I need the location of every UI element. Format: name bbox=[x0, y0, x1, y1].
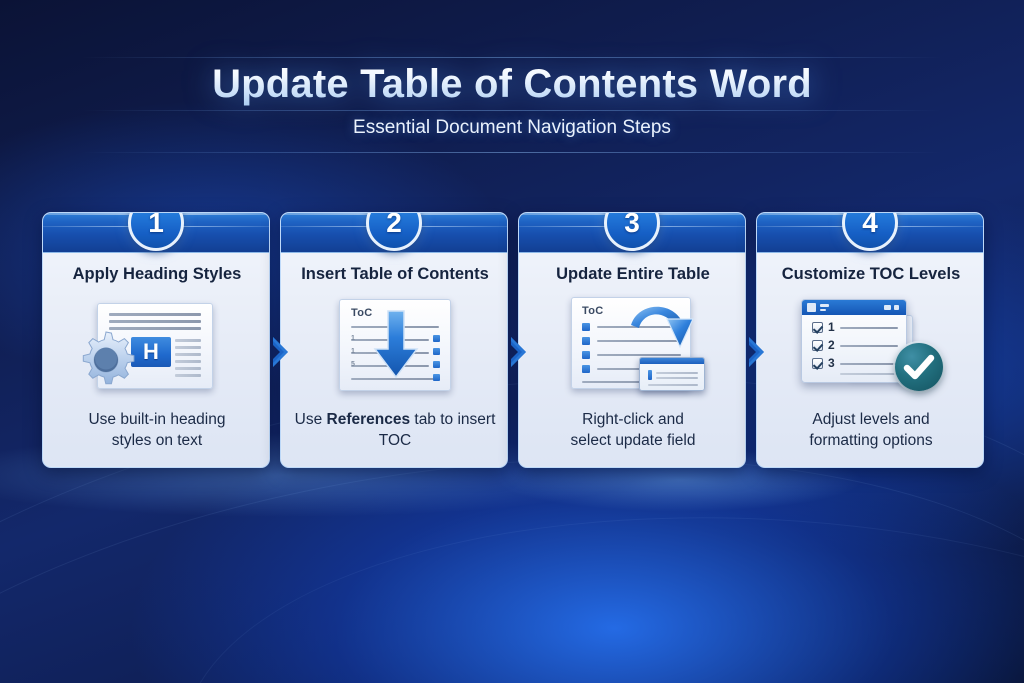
context-menu-popup[interactable] bbox=[639, 357, 705, 391]
toc-refresh-arrow-context-menu-icon: ToC bbox=[519, 291, 745, 397]
gear-icon bbox=[75, 329, 137, 396]
infographic-canvas: Update Table of Contents Word Essential … bbox=[0, 0, 1024, 683]
menu-icon bbox=[820, 309, 826, 311]
page-subtitle: Essential Document Navigation Steps bbox=[0, 117, 1024, 139]
menu-icon bbox=[820, 304, 829, 307]
step-card-3[interactable]: 3 Update Entire Table ToC bbox=[518, 212, 746, 468]
step-card-2[interactable]: 2 Insert Table of Contents ToC 1 1 5 bbox=[280, 212, 508, 468]
level-number: 1 bbox=[828, 320, 835, 334]
header-divider bbox=[82, 152, 942, 153]
step-title: Customize TOC Levels bbox=[763, 265, 979, 284]
step-desc-suffix: styles on text bbox=[112, 432, 202, 449]
header-divider bbox=[82, 57, 942, 58]
toc-row-number: 1 bbox=[351, 348, 355, 355]
header-divider bbox=[82, 110, 942, 111]
step-title: Update Entire Table bbox=[525, 265, 741, 284]
step-title: Insert Table of Contents bbox=[287, 265, 503, 284]
level-number: 3 bbox=[828, 356, 835, 370]
step-desc-suffix: formatting options bbox=[809, 432, 932, 449]
toc-row-number: 1 bbox=[351, 335, 355, 342]
toc-levels-dialog-checkmark-icon: 1 2 3 bbox=[757, 291, 983, 397]
step-desc-prefix: Right-click and bbox=[582, 411, 684, 428]
toc-row-number: 5 bbox=[351, 361, 355, 368]
step-desc-prefix: Adjust levels and bbox=[812, 411, 929, 428]
step-title: Apply Heading Styles bbox=[49, 265, 265, 284]
down-arrow-icon bbox=[371, 309, 421, 386]
step-card-1[interactable]: 1 Apply Heading Styles H bbox=[42, 212, 270, 468]
checkmark-badge-icon bbox=[895, 343, 943, 391]
dialog-title-bar bbox=[802, 300, 906, 315]
window-minimize-icon[interactable] bbox=[884, 305, 891, 310]
document-heading-gear-icon: H bbox=[43, 291, 269, 397]
chevron-right-icon bbox=[746, 335, 768, 369]
level-checkbox[interactable] bbox=[812, 340, 823, 351]
heading-letter-block: H bbox=[131, 337, 171, 367]
level-number: 2 bbox=[828, 338, 835, 352]
page-title: Update Table of Contents Word bbox=[0, 62, 1024, 107]
toc-label: ToC bbox=[582, 305, 603, 317]
level-checkbox[interactable] bbox=[812, 322, 823, 333]
step-desc-emphasis: References bbox=[327, 411, 411, 428]
step-desc-suffix: select update field bbox=[571, 432, 696, 449]
window-close-icon[interactable] bbox=[894, 305, 899, 310]
background-curve bbox=[163, 479, 1024, 683]
step-description: Use References tab to insert TOC bbox=[291, 409, 499, 451]
step-description: Right-click and select update field bbox=[529, 409, 737, 451]
chevron-right-icon bbox=[270, 335, 292, 369]
step-desc-prefix: Use built-in heading bbox=[88, 411, 225, 428]
level-checkbox[interactable] bbox=[812, 358, 823, 369]
toc-levels-dialog[interactable]: 1 2 3 bbox=[801, 299, 907, 383]
toc-insert-down-arrow-icon: ToC 1 1 5 bbox=[281, 291, 507, 397]
grid-icon bbox=[807, 303, 816, 312]
step-card-4[interactable]: 4 Customize TOC Levels 1 2 bbox=[756, 212, 984, 468]
step-description: Adjust levels and formatting options bbox=[767, 409, 975, 451]
chevron-right-icon bbox=[508, 335, 530, 369]
toc-label: ToC bbox=[351, 307, 372, 319]
popup-title-bar bbox=[640, 358, 704, 364]
text-cursor-icon bbox=[648, 370, 652, 380]
steps-container: 1 Apply Heading Styles H bbox=[42, 212, 982, 468]
step-desc-prefix: Use bbox=[295, 411, 327, 428]
step-description: Use built-in heading styles on text bbox=[53, 409, 261, 451]
